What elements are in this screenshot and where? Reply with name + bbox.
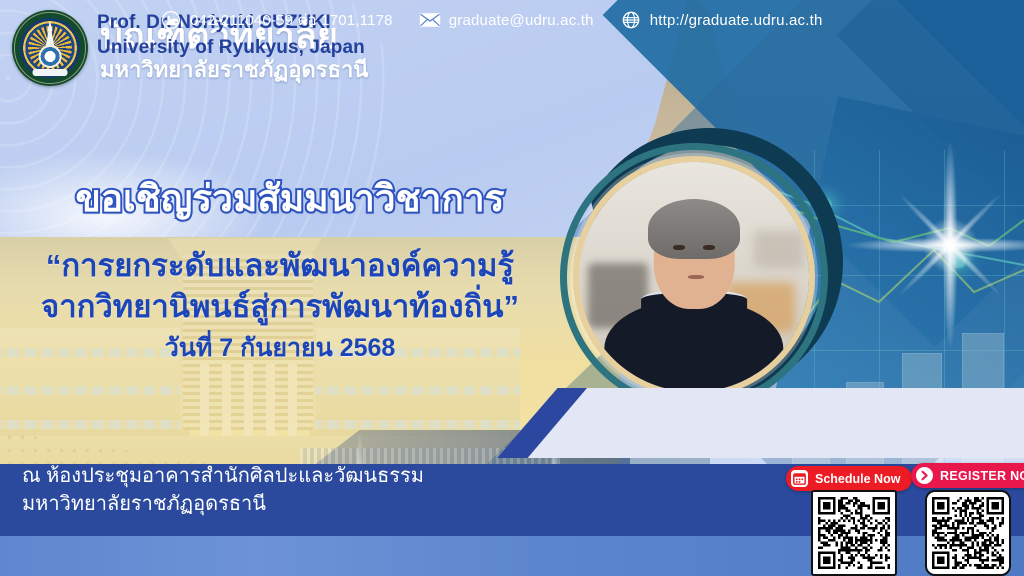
venue-line1: ณ ห้องประชุมอาคารสำนักศิลปะและวัฒนธรรม (22, 462, 424, 490)
venue-text: ณ ห้องประชุมอาคารสำนักศิลปะและวัฒนธรรม ม… (22, 462, 424, 518)
venue-line2: มหาวิทยาลัยราชภัฏอุดรธานี (22, 490, 424, 518)
globe-icon (620, 9, 642, 31)
mail-icon (419, 9, 441, 31)
qr-code-register[interactable] (925, 490, 1011, 576)
headline: ขอเชิญร่วมสัมมนาวิชาการ (30, 176, 550, 222)
arrow-right-circle-icon (916, 467, 933, 484)
seminar-topic: “การยกระดับและพัฒนาองค์ความรู้ จากวิทยาน… (10, 245, 550, 327)
contact-phone: 042-211040-59 ต่อ 1701,1178 (160, 8, 393, 32)
qr-code-schedule[interactable] (811, 490, 897, 576)
contact-website[interactable]: http://graduate.udru.ac.th (620, 9, 823, 31)
event-date: วันที่ 7 กันยายน 2568 (10, 332, 550, 364)
contact-list: 042-211040-59 ต่อ 1701,1178 graduate@udr… (160, 0, 823, 40)
portrait-ring-gold (573, 156, 815, 398)
schedule-now-button[interactable]: Schedule Now (786, 466, 912, 491)
register-now-label: REGISTER NOW (940, 469, 1024, 483)
topic-line2: จากวิทยานิพนธ์สู่การพัฒนาท้องถิ่น” (10, 286, 550, 327)
email-text: graduate@udru.ac.th (449, 12, 594, 29)
contact-email[interactable]: graduate@udru.ac.th (419, 9, 594, 31)
website-text: http://graduate.udru.ac.th (650, 12, 823, 29)
phone-icon (160, 9, 182, 31)
register-now-button[interactable]: REGISTER NOW (911, 463, 1024, 488)
calendar-icon (791, 470, 808, 487)
phone-text: 042-211040-59 ต่อ 1701,1178 (190, 8, 393, 32)
org-title-line2: มหาวิทยาลัยราชภัฏอุดรธานี (100, 56, 368, 84)
topic-line1: “การยกระดับและพัฒนาองค์ความรู้ (10, 245, 550, 286)
udru-logo (12, 10, 88, 86)
speaker-photo (579, 162, 809, 392)
schedule-now-label: Schedule Now (815, 472, 900, 486)
event-poster: บัณฑิตวิทยาลัย มหาวิทยาลัยราชภัฏอุดรธานี… (0, 0, 1024, 576)
speaker-nameplate (497, 388, 1024, 458)
